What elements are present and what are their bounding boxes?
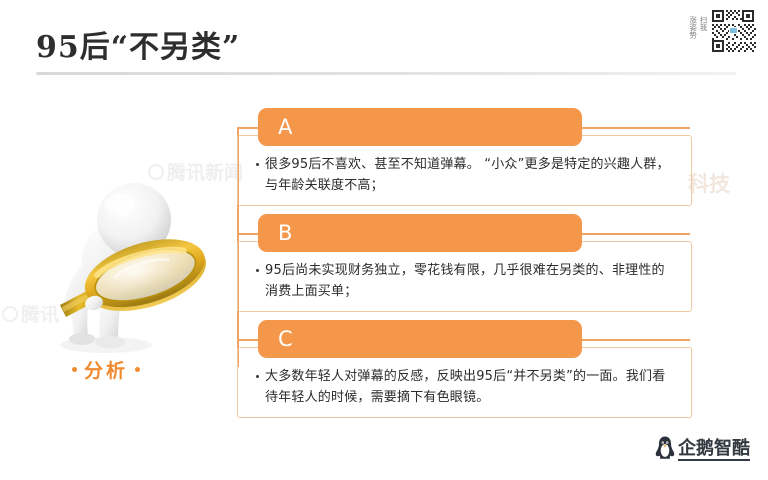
qr-caption-right: 扫我 (699, 16, 707, 39)
section-connector-right (582, 339, 690, 341)
page-title: 95后“不另类” (36, 22, 240, 66)
section-b-text: 95后尚未实现财务独立，零花钱有限，几乎很难在另类的、非理性的消费上面买单； (265, 260, 675, 302)
qr-caption-left: 涨姿势 (688, 16, 696, 39)
section-connector-left (237, 339, 259, 341)
analysis-dot-right-icon (135, 367, 140, 372)
section-header-a[interactable]: A (258, 108, 582, 146)
section-c-text: 大多数年轻人对弹幕的反感，反映出95后“并不另类”的一面。我们看待年轻人的时候，… (265, 366, 675, 408)
bullet-dot-icon (256, 163, 259, 166)
analysis-label: 分析 (72, 356, 140, 383)
slide-root: 95后“不另类” 涨姿势 扫我 (0, 0, 768, 480)
sections-list: A 很多95后不喜欢、甚至不知道弹幕。 “小众”更多是特定的兴趣人群，与年龄关联… (237, 108, 697, 426)
bullet-item: 95后尚未实现财务独立，零花钱有限，几乎很难在另类的、非理性的消费上面买单； (256, 260, 675, 302)
section-header-b[interactable]: B (258, 214, 582, 252)
bullet-dot-icon (256, 375, 259, 378)
section-c: C 大多数年轻人对弹幕的反感，反映出95后“并不另类”的一面。我们看待年轻人的时… (237, 320, 697, 418)
section-connector-left (237, 233, 259, 235)
qr-code-icon[interactable] (710, 8, 756, 54)
analysis-label-text: 分析 (84, 356, 128, 383)
section-b: B 95后尚未实现财务独立，零花钱有限，几乎很难在另类的、非理性的消费上面买单； (237, 214, 697, 312)
bullet-dot-icon (256, 269, 259, 272)
footer-logo: 企鹅智酷 (654, 435, 750, 466)
footer-logo-text: 企鹅智酷 (678, 440, 750, 462)
qr-caption: 涨姿势 扫我 (688, 8, 707, 39)
section-connector-right (582, 233, 690, 235)
3d-figure-with-magnifier-icon (38, 155, 238, 365)
watermark-dot-icon (2, 306, 18, 322)
bullet-item: 大多数年轻人对弹幕的反感，反映出95后“并不另类”的一面。我们看待年轻人的时候，… (256, 366, 675, 408)
penguin-icon (654, 435, 676, 466)
title-divider (36, 72, 736, 75)
section-header-c[interactable]: C (258, 320, 582, 358)
section-letter-a: A (278, 117, 293, 138)
analysis-dot-left-icon (72, 367, 77, 372)
section-a: A 很多95后不喜欢、甚至不知道弹幕。 “小众”更多是特定的兴趣人群，与年龄关联… (237, 108, 697, 206)
section-letter-c: C (278, 329, 294, 350)
section-connector-left (237, 127, 259, 129)
section-a-text: 很多95后不喜欢、甚至不知道弹幕。 “小众”更多是特定的兴趣人群，与年龄关联度不… (265, 154, 675, 196)
section-connector-right (582, 127, 690, 129)
qr-block[interactable]: 涨姿势 扫我 (688, 8, 756, 54)
section-letter-b: B (278, 223, 293, 244)
bullet-item: 很多95后不喜欢、甚至不知道弹幕。 “小众”更多是特定的兴趣人群，与年龄关联度不… (256, 154, 675, 196)
